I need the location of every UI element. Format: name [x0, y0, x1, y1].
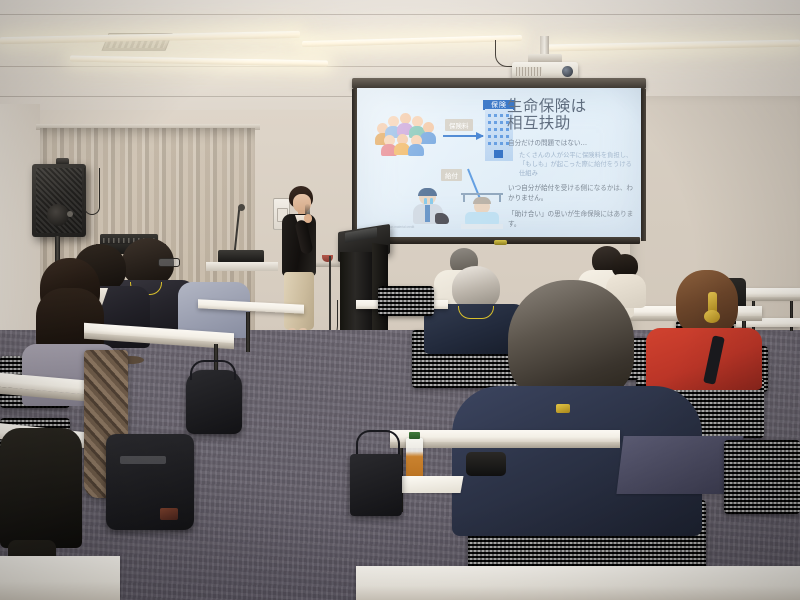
slide-title: 生命保険は相互扶助: [507, 98, 635, 132]
slide-callout: たくさんの人が公平に保険料を負担し、「もしも」が起こった際に給付をうける仕組み: [519, 151, 637, 178]
screen-pull-knob[interactable]: [494, 240, 507, 245]
slide-subtitle: 自分だけの問題ではない…: [508, 137, 633, 147]
person-torso: [0, 428, 82, 548]
bottle-cap: [409, 432, 420, 439]
presenter-hand: [304, 214, 312, 223]
slide-body-paragraph-1: いつ自分が給付を受ける側になるかは、わかりません。: [508, 183, 634, 203]
desk: [0, 556, 120, 600]
ceiling-seam: [0, 96, 360, 97]
backpack-strap: [190, 360, 236, 380]
audience-member: [178, 258, 250, 336]
presentation-slide: 保険料 保険 給付: [363, 93, 635, 233]
chair: [378, 286, 434, 316]
desk-leg: [246, 312, 250, 352]
arrow-right-icon: [443, 135, 483, 137]
presenter-skirt: [284, 272, 314, 330]
tote-bag: [350, 454, 402, 516]
speaker-tweeter-icon: [67, 211, 73, 217]
microphone-icon: [238, 204, 245, 211]
hospital-bed-illustration: [459, 191, 505, 229]
papers: [399, 476, 464, 493]
ceiling-seam: [0, 66, 560, 67]
speaker-woofer-icon: [47, 204, 69, 226]
pa-speaker: [32, 164, 86, 237]
speaker-cable: [84, 168, 100, 215]
hair-clip-ring: [704, 310, 720, 323]
crowd-illustration: [375, 113, 437, 155]
desk-front: [390, 442, 620, 448]
chair: [724, 440, 800, 514]
collar-seam: [530, 406, 610, 412]
projector-vent: [516, 67, 542, 76]
glasses-icon: [158, 258, 180, 267]
backpack-logo: [120, 456, 166, 464]
crying-person-illustration: [409, 189, 449, 229]
benefit-tag-label: 給付: [441, 169, 462, 181]
projection-screen: 保険料 保険 給付: [357, 88, 641, 238]
screen-right-edge: [641, 89, 646, 241]
projector-lens-icon: [562, 66, 573, 77]
desk: [356, 566, 800, 600]
premium-tag-label: 保険料: [445, 119, 473, 131]
slide-body-paragraph-2: 「助け合い」の思いが生命保険にはあります。: [508, 209, 634, 229]
zipper-pull-icon: [556, 404, 570, 413]
device-on-desk: [466, 452, 506, 476]
seminar-room-photo: 保険料 保険 給付: [0, 0, 800, 600]
backpack-patch: [160, 508, 178, 520]
desk: [390, 430, 620, 442]
ceiling-seam: [0, 14, 800, 15]
backpack-large: [106, 434, 194, 530]
